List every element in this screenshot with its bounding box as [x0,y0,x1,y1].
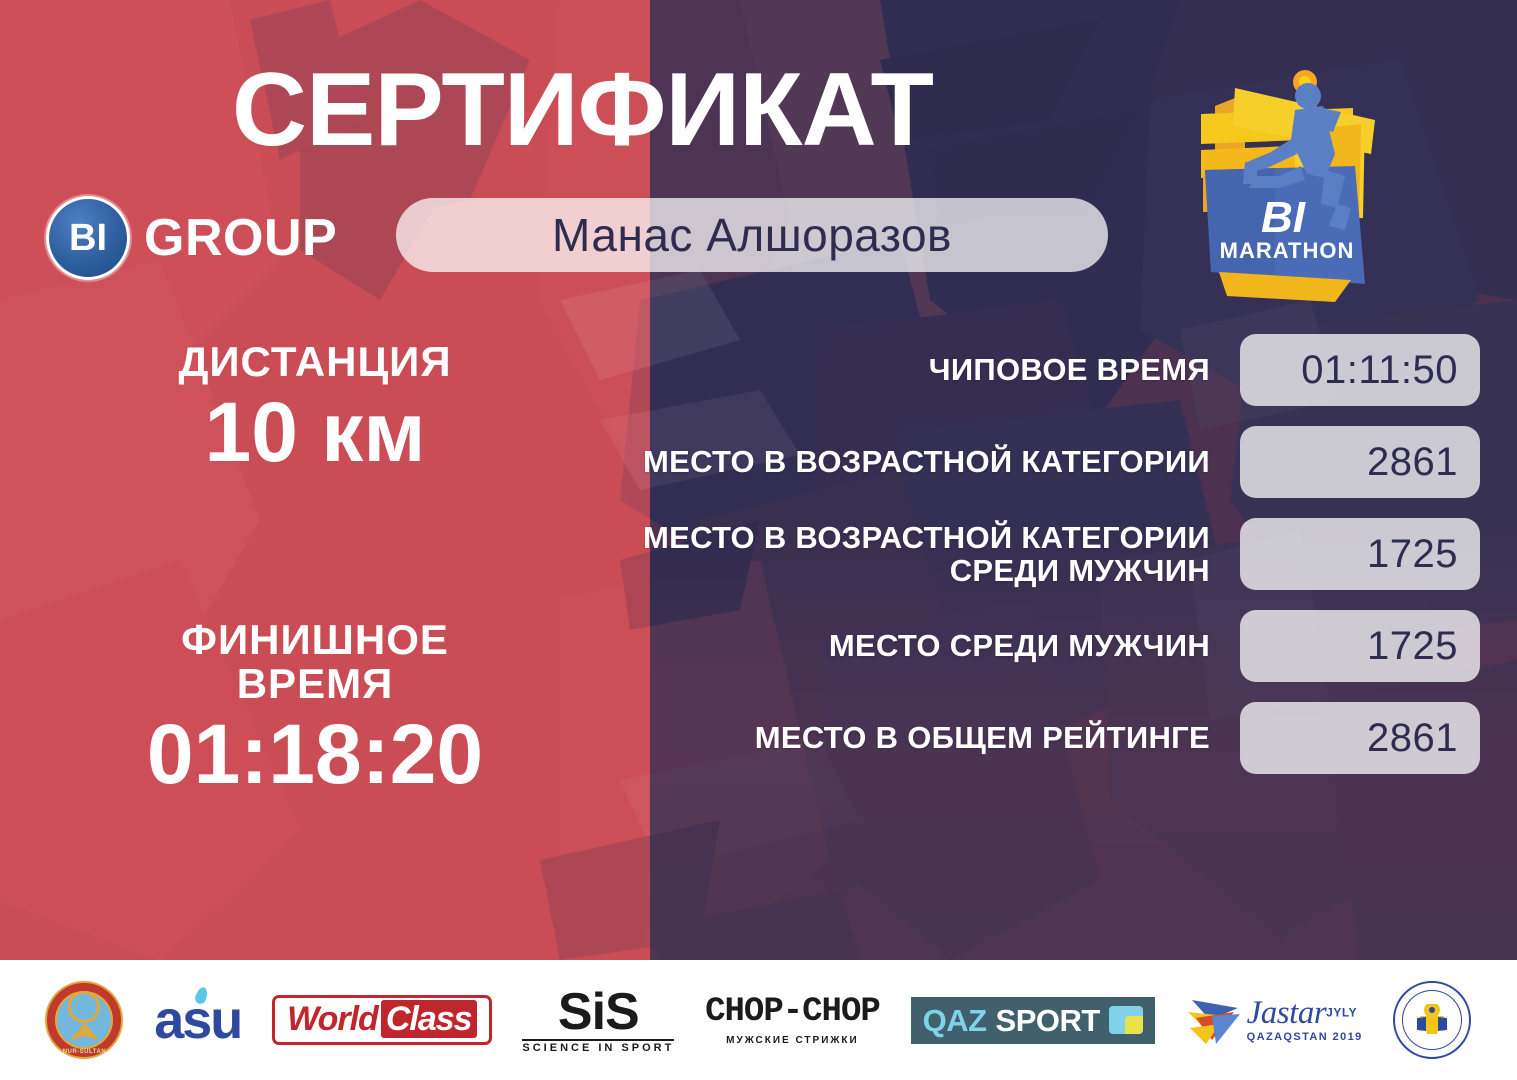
seal-inner-ring [1402,990,1462,1050]
stat-value: 2861 [1240,426,1480,498]
finish-time-value: 01:18:20 [60,710,570,798]
stat-label: МЕСТО В ОБЩЕМ РЕЙТИНГЕ [600,721,1210,754]
finish-time-label-line1: ФИНИШНОЕ [60,618,570,662]
bi-marathon-logo: BI MARATHON [1175,58,1430,313]
stat-row: МЕСТО В ВОЗРАСТНОЙ КАТЕГОРИИ 2861 [600,426,1480,498]
certificate-canvas: СЕРТИФИКАТ BI GROUP Манас Алшоразов [0,0,1517,1080]
nur-sultan-emblem-icon: NUR-SULTAN [45,981,123,1059]
sis-tagline: SCIENCE IN SPORT [522,1039,674,1054]
jastar-logo: JastarJYLY QAZAQSTAN 2019 [1186,994,1363,1046]
chop-chop-wordmark: CHOP-CHOP [705,995,880,1029]
sponsor-qazsport: QAZSPORT [911,997,1155,1044]
qazsport-word1: QAZ [923,1005,987,1036]
certificate-title: СЕРТИФИКАТ [0,58,1165,162]
finish-time-block: ФИНИШНОЕ ВРЕМЯ 01:18:20 [60,618,570,798]
jastar-text-block: JastarJYLY QAZAQSTAN 2019 [1247,997,1363,1043]
chop-chop-tagline: МУЖСКИЕ СТРИЖКИ [705,1036,880,1046]
bi-circle-icon: BI [46,196,130,280]
asu-wordmark: asu [154,993,241,1047]
sponsor-sis: SiS SCIENCE IN SPORT [522,986,674,1054]
seal-figure-icon [1417,1004,1447,1036]
world-class-word1: World [287,1000,378,1038]
sis-logo: SiS SCIENCE IN SPORT [522,986,674,1054]
stat-value: 2861 [1240,702,1480,774]
jastar-superscript: JYLY [1326,1006,1357,1020]
participant-name-badge: Манас Алшоразов [396,198,1108,272]
sponsor-chop-chop: CHOP-CHOP МУЖСКИЕ СТРИЖКИ [705,995,880,1046]
world-class-word2: Class [381,1000,477,1038]
bi-group-wordmark: GROUP [144,208,337,268]
sponsor-asu: asu [154,993,241,1047]
marathon-bi-text: BI [1261,193,1306,242]
chop-chop-logo: CHOP-CHOP МУЖСКИЕ СТРИЖКИ [705,995,880,1046]
stat-row: ЧИПОВОЕ ВРЕМЯ 01:11:50 [600,334,1480,406]
sponsor-jastar: JastarJYLY QAZAQSTAN 2019 [1186,994,1363,1046]
qazsport-word2: SPORT [996,1005,1100,1036]
stat-label: ЧИПОВОЕ ВРЕМЯ [600,353,1210,386]
stat-row: МЕСТО СРЕДИ МУЖЧИН 1725 [600,610,1480,682]
stat-label: МЕСТО В ВОЗРАСТНОЙ КАТЕГОРИИ [600,445,1210,478]
marathon-word-text: MARATHON [1220,238,1355,263]
jastar-arrow-icon [1186,994,1242,1046]
emblem-shanyrak-shape [68,991,100,1023]
distance-label: ДИСТАНЦИЯ [60,340,570,384]
sponsor-world-class: WorldClass [272,995,491,1045]
distance-value: 10 км [60,388,570,476]
jastar-tagline: QAZAQSTAN 2019 [1247,1032,1363,1043]
sis-wordmark: SiS [522,986,674,1038]
qazsport-logo: QAZSPORT [911,997,1155,1044]
stat-value: 1725 [1240,610,1480,682]
stat-row: МЕСТО В ОБЩЕМ РЕЙТИНГЕ 2861 [600,702,1480,774]
ministry-seal-icon [1393,981,1471,1059]
sponsor-ministry [1393,981,1471,1059]
stat-value: 01:11:50 [1240,334,1480,406]
world-class-wordmark: WorldClass [272,995,491,1045]
participant-name: Манас Алшоразов [552,208,952,262]
stat-label: МЕСТО СРЕДИ МУЖЧИН [600,629,1210,662]
stat-value: 1725 [1240,518,1480,590]
bi-group-logo: BI GROUP [46,196,337,280]
jastar-wordmark: Jastar [1247,995,1327,1031]
qazsport-chip-icon [1109,1006,1143,1034]
emblem-wing-shape [69,1023,99,1041]
stat-row: МЕСТО В ВОЗРАСТНОЙ КАТЕГОРИИ СРЕДИ МУЖЧИ… [600,518,1480,590]
right-stats-column: ЧИПОВОЕ ВРЕМЯ 01:11:50 МЕСТО В ВОЗРАСТНО… [600,334,1480,774]
nur-sultan-label: NUR-SULTAN [47,1049,121,1055]
sponsor-nur-sultan: NUR-SULTAN [45,981,123,1059]
sponsor-strip: NUR-SULTAN asu WorldClass SiS SCIENCE IN… [0,960,1517,1080]
finish-time-label-line2: ВРЕМЯ [60,662,570,706]
left-stats-column: ДИСТАНЦИЯ 10 км ФИНИШНОЕ ВРЕМЯ 01:18:20 [60,340,570,799]
stat-label: МЕСТО В ВОЗРАСТНОЙ КАТЕГОРИИ СРЕДИ МУЖЧИ… [600,521,1210,588]
distance-block: ДИСТАНЦИЯ 10 км [60,340,570,476]
